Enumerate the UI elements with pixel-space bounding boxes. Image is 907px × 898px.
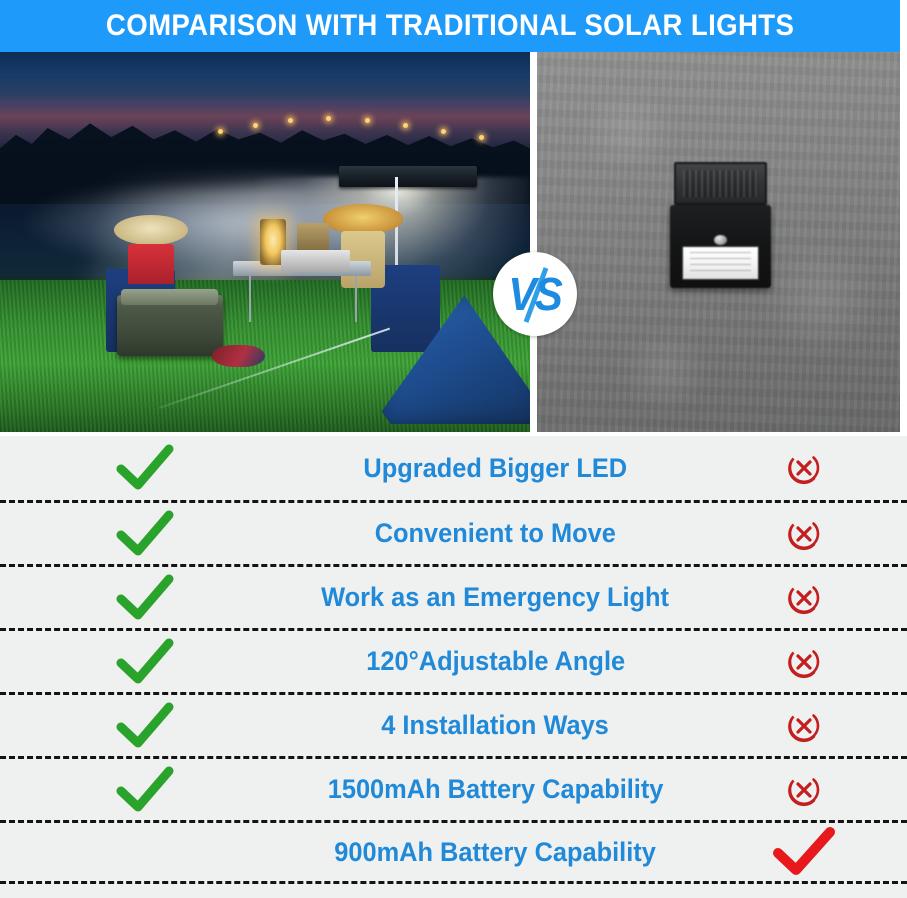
comparison-infographic: COMPARISON WITH TRADITIONAL SOLAR LIGHTS <box>0 0 907 898</box>
feature-cell: Upgraded Bigger LED <box>290 453 701 484</box>
green-check-icon <box>116 766 174 814</box>
table-row: 900mAh Battery Capability <box>0 820 907 884</box>
feature-label: Work as an Emergency Light <box>322 582 670 613</box>
camper-person-left <box>122 215 180 283</box>
table-row: Convenient to Move <box>0 500 907 564</box>
string-lights <box>212 109 530 155</box>
straw-hat-icon <box>114 215 189 245</box>
motion-sensor-icon <box>714 235 727 246</box>
green-check-icon <box>116 702 174 750</box>
led-lens-panel <box>682 246 759 280</box>
solar-panel <box>674 162 767 205</box>
red-cross-circle-icon <box>786 644 822 680</box>
vs-label: VS <box>509 271 562 317</box>
traditional-product-cell <box>701 708 907 744</box>
table-row: 1500mAh Battery Capability <box>0 756 907 820</box>
table-row: Work as an Emergency Light <box>0 564 907 628</box>
table-row: 120°Adjustable Angle <box>0 628 907 692</box>
feature-label: Upgraded Bigger LED <box>364 453 628 484</box>
new-product-cell <box>0 444 290 492</box>
camp-stove <box>281 250 350 273</box>
feature-cell: Work as an Emergency Light <box>290 582 701 613</box>
feature-cell: 1500mAh Battery Capability <box>290 774 701 805</box>
cooler-box <box>117 295 223 356</box>
red-cross-circle-icon <box>786 772 822 808</box>
traditional-product-cell <box>701 580 907 616</box>
vs-badge: VS <box>493 252 577 336</box>
light-housing <box>670 205 771 288</box>
camping-scene-photo <box>0 52 530 432</box>
feature-label: 120°Adjustable Angle <box>366 646 625 677</box>
shoes-on-grass <box>212 345 265 368</box>
new-product-cell <box>0 702 290 750</box>
traditional-product-cell <box>701 516 907 552</box>
feature-cell: 900mAh Battery Capability <box>290 837 701 868</box>
feature-cell: Convenient to Move <box>290 518 701 549</box>
comparison-table: Upgraded Bigger LED Convenient to Move <box>0 436 907 898</box>
new-product-cell <box>0 574 290 622</box>
red-cross-circle-icon <box>786 516 822 552</box>
red-cross-circle-icon <box>786 708 822 744</box>
table-row: Upgraded Bigger LED <box>0 436 907 500</box>
hero-photo-strip: VS <box>0 52 900 432</box>
page-title: COMPARISON WITH TRADITIONAL SOLAR LIGHTS <box>106 9 794 43</box>
traditional-solar-wall-light <box>668 162 773 287</box>
traditional-product-cell <box>701 450 907 486</box>
traditional-product-cell <box>701 772 907 808</box>
red-cross-circle-icon <box>786 450 822 486</box>
portable-led-light-icon <box>339 166 477 187</box>
header-banner: COMPARISON WITH TRADITIONAL SOLAR LIGHTS <box>0 0 900 52</box>
traditional-product-cell <box>701 827 907 877</box>
green-check-icon <box>116 574 174 622</box>
table-row: 4 Installation Ways <box>0 692 907 756</box>
kettle <box>297 223 329 253</box>
feature-cell: 4 Installation Ways <box>290 710 701 741</box>
red-check-icon <box>773 827 835 877</box>
traditional-solar-light-photo <box>537 52 900 432</box>
new-product-cell <box>0 510 290 558</box>
green-check-icon <box>116 444 174 492</box>
feature-label: 4 Installation Ways <box>382 710 610 741</box>
feature-label: 1500mAh Battery Capability <box>328 774 664 805</box>
green-check-icon <box>116 510 174 558</box>
traditional-product-cell <box>701 644 907 680</box>
camping-scene-background <box>0 52 530 432</box>
green-check-icon <box>116 638 174 686</box>
new-product-cell <box>0 766 290 814</box>
new-product-cell <box>0 638 290 686</box>
feature-label: Convenient to Move <box>375 518 616 549</box>
red-shirt <box>128 244 175 284</box>
sun-hat-icon <box>323 204 402 234</box>
feature-label: 900mAh Battery Capability <box>335 837 657 868</box>
feature-cell: 120°Adjustable Angle <box>290 646 701 677</box>
concrete-wall-background <box>537 52 900 432</box>
red-cross-circle-icon <box>786 580 822 616</box>
